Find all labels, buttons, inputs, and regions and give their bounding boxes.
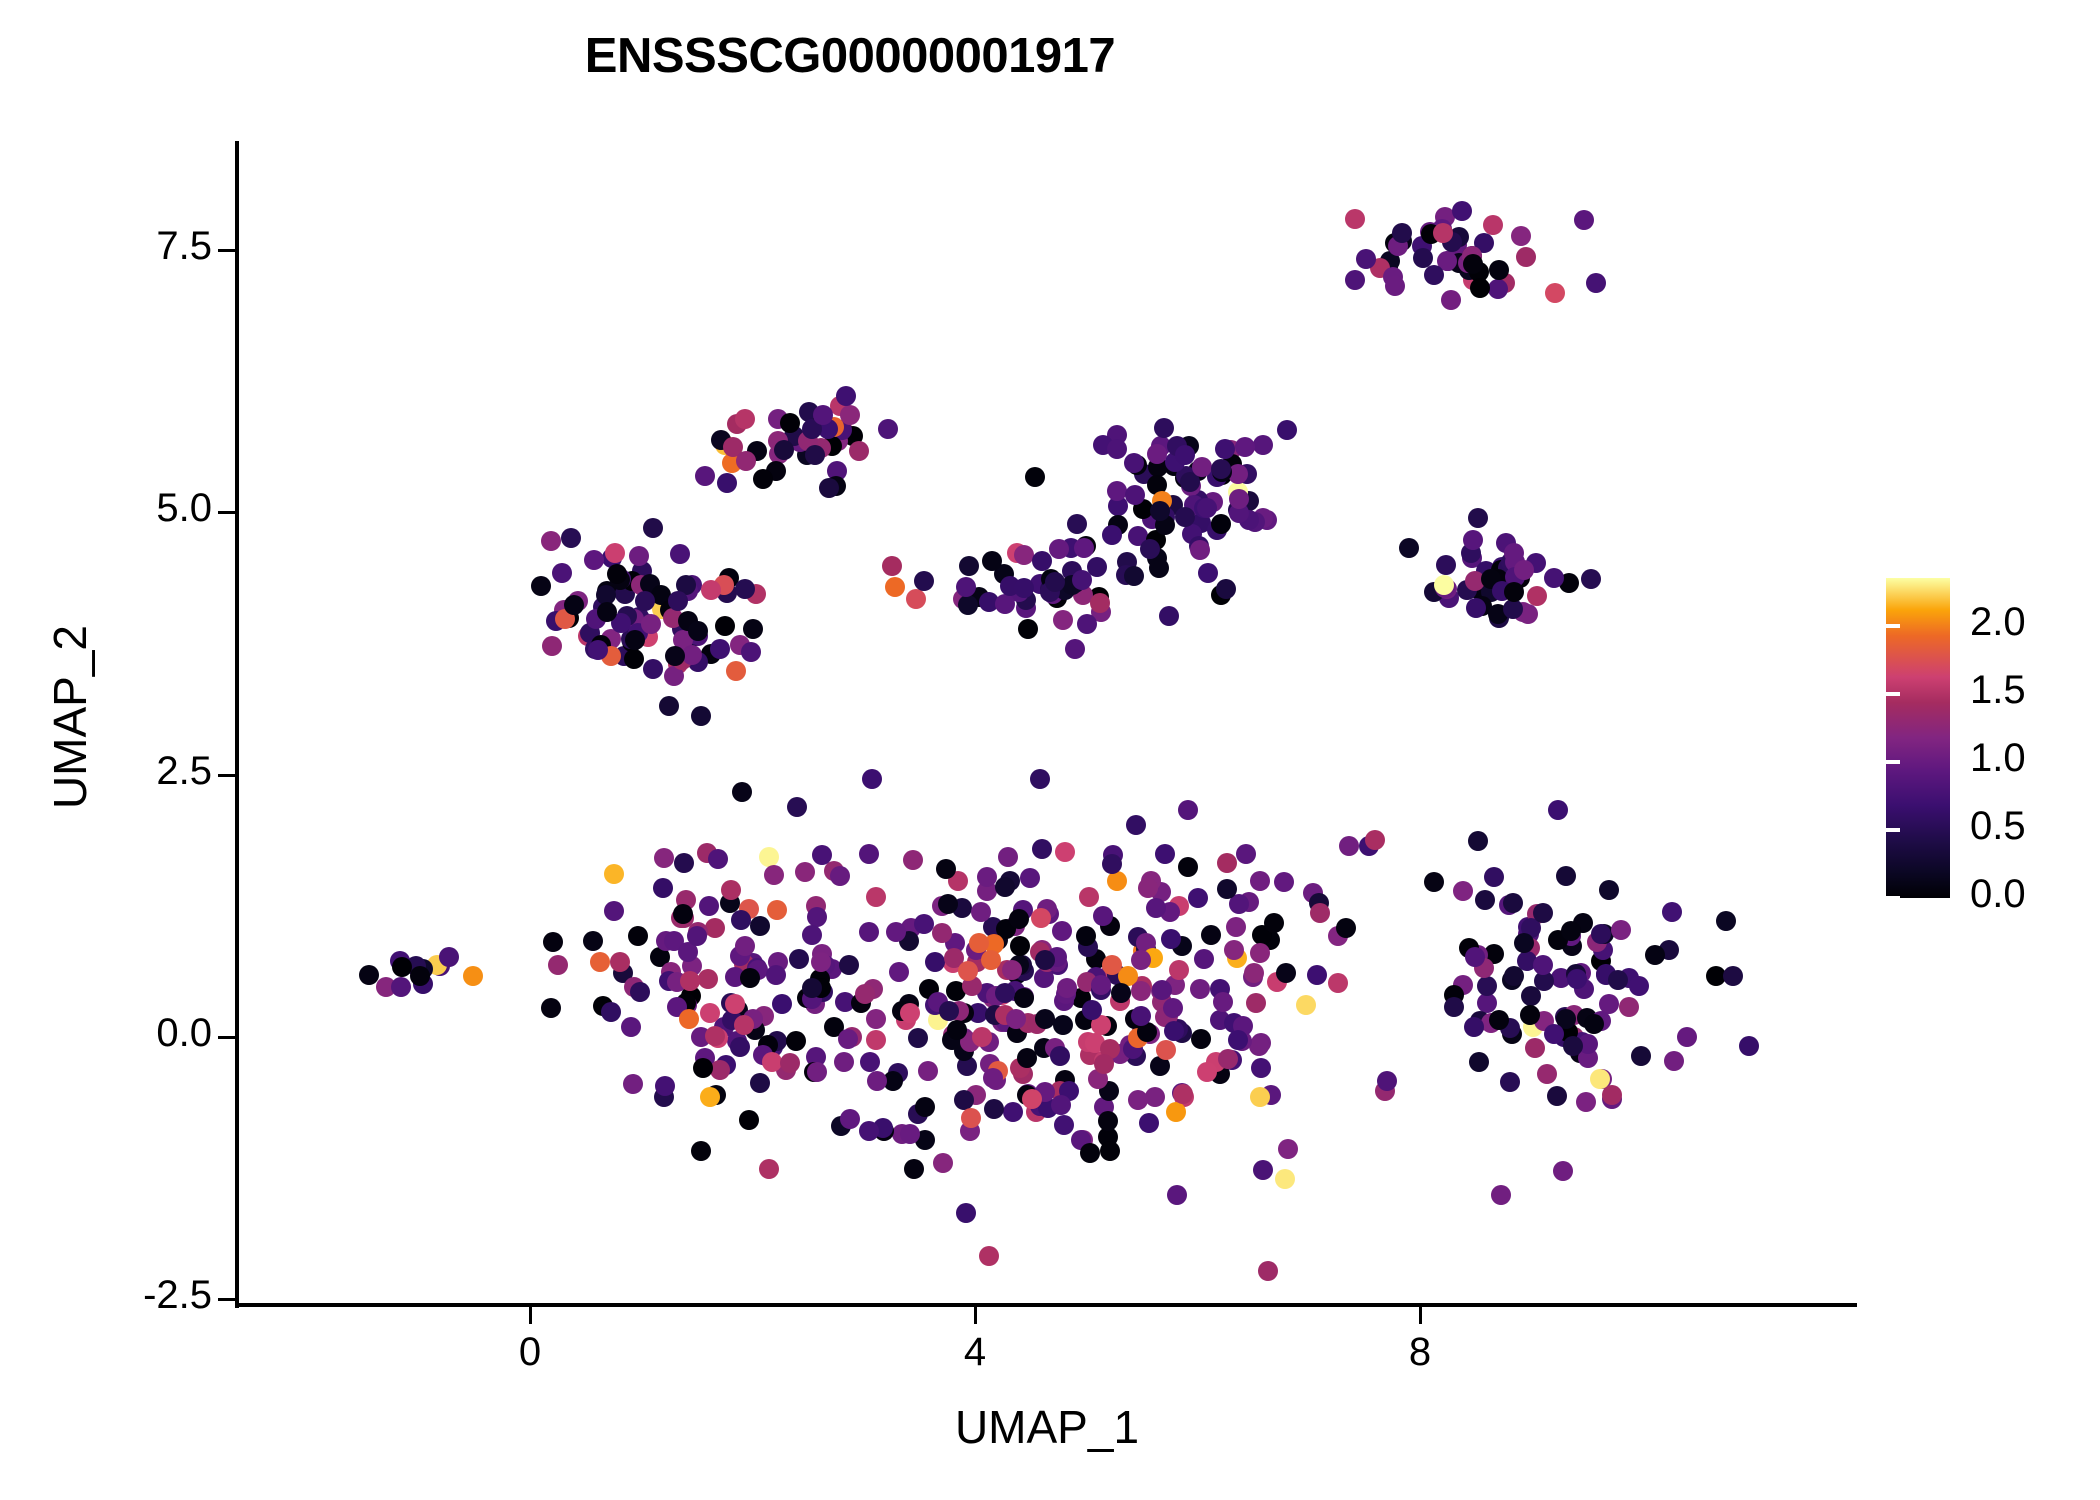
scatter-point — [900, 1124, 920, 1144]
scatter-point — [904, 1159, 924, 1179]
colorbar-tick-mark — [1886, 828, 1900, 832]
scatter-point — [1664, 1051, 1684, 1071]
scatter-point — [1433, 223, 1453, 243]
y-tick-mark — [218, 511, 235, 514]
scatter-point — [1009, 909, 1029, 929]
scatter-point — [743, 619, 763, 639]
colorbar-tick-mark — [1886, 896, 1900, 900]
y-tick-mark — [218, 1036, 235, 1039]
scatter-point — [1581, 569, 1601, 589]
scatter-point — [543, 932, 563, 952]
scatter-point — [1067, 514, 1087, 534]
scatter-point — [772, 994, 792, 1014]
scatter-point — [767, 900, 787, 920]
scatter-point — [410, 966, 430, 986]
scatter-point — [735, 579, 755, 599]
scatter-point — [1079, 887, 1099, 907]
scatter-point — [691, 706, 711, 726]
scatter-point — [1250, 943, 1270, 963]
scatter-point — [1140, 539, 1160, 559]
scatter-point — [584, 550, 604, 570]
scatter-point — [629, 546, 649, 566]
scatter-point — [1336, 918, 1356, 938]
scatter-point — [787, 797, 807, 817]
scatter-point — [933, 1153, 953, 1173]
scatter-point — [1010, 936, 1030, 956]
colorbar-tick-label: 0.5 — [1970, 804, 2100, 849]
scatter-point — [807, 907, 827, 927]
scatter-point — [1146, 898, 1166, 918]
scatter-point — [977, 867, 997, 887]
scatter-point — [1051, 1095, 1071, 1115]
colorbar-tick-mark — [1872, 760, 1886, 764]
scatter-point — [1591, 924, 1611, 944]
scatter-point — [1468, 508, 1488, 528]
scatter-point — [739, 1110, 759, 1130]
scatter-point — [838, 1029, 858, 1049]
scatter-point — [780, 1053, 800, 1073]
scatter-point — [725, 994, 745, 1014]
scatter-point — [1155, 844, 1175, 864]
scatter-point — [789, 949, 809, 969]
scatter-point — [1463, 254, 1483, 274]
scatter-point — [1608, 970, 1628, 990]
scatter-point — [1246, 993, 1266, 1013]
scatter-point — [740, 968, 760, 988]
scatter-point — [759, 1159, 779, 1179]
y-axis-line — [235, 141, 239, 1308]
scatter-point — [805, 445, 825, 465]
scatter-point — [1586, 273, 1606, 293]
scatter-point — [882, 556, 902, 576]
scatter-point — [932, 923, 952, 943]
scatter-point — [1102, 854, 1122, 874]
scatter-point — [766, 965, 786, 985]
scatter-point — [1094, 1054, 1114, 1074]
scatter-point — [866, 887, 886, 907]
scatter-point — [1164, 1021, 1184, 1041]
scatter-point — [699, 896, 719, 916]
scatter-point — [1567, 969, 1587, 989]
scatter-point — [859, 1121, 879, 1141]
scatter-point — [531, 576, 551, 596]
scatter-point — [956, 1203, 976, 1223]
scatter-point — [1159, 606, 1179, 626]
scatter-point — [1175, 507, 1195, 527]
scatter-point — [1662, 902, 1682, 922]
scatter-point — [1739, 1036, 1759, 1056]
scatter-point — [1276, 963, 1296, 983]
scatter-point — [705, 918, 725, 938]
scatter-point — [605, 543, 625, 563]
scatter-point — [1211, 514, 1231, 534]
scatter-point — [668, 591, 688, 611]
scatter-point — [1014, 988, 1034, 1008]
scatter-point — [541, 998, 561, 1018]
scatter-point — [708, 849, 728, 869]
colorbar-tick-label: 1.5 — [1970, 668, 2100, 713]
scatter-point — [1188, 888, 1208, 908]
scatter-point — [1035, 1009, 1055, 1029]
scatter-point — [610, 952, 630, 972]
scatter-point — [862, 769, 882, 789]
colorbar-tick-mark — [1872, 828, 1886, 832]
scatter-point — [780, 413, 800, 433]
scatter-point — [947, 1020, 967, 1040]
colorbar-tick-label: 0.0 — [1970, 872, 2100, 917]
y-tick-mark — [218, 1298, 235, 1301]
colorbar-tick-mark — [1886, 692, 1900, 696]
scatter-point — [1547, 1086, 1567, 1106]
scatter-point — [859, 922, 879, 942]
scatter-point — [840, 1109, 860, 1129]
colorbar-tick-mark — [1872, 896, 1886, 900]
scatter-point — [925, 952, 945, 972]
y-axis-ticks: -2.50.02.55.07.5 — [0, 0, 212, 1500]
scatter-point — [736, 451, 756, 471]
scatter-point — [601, 1002, 621, 1022]
scatter-point — [710, 639, 730, 659]
scatter-point — [764, 865, 784, 885]
scatter-point — [1236, 844, 1256, 864]
x-tick-label: 4 — [915, 1330, 1035, 1375]
plot-canvas: ENSSSCG00000001917 -2.50.02.55.07.5 048 … — [0, 0, 2100, 1500]
scatter-point — [635, 591, 655, 611]
scatter-point — [1278, 1139, 1298, 1159]
scatter-point — [1217, 853, 1237, 873]
scatter-point — [762, 1052, 782, 1072]
colorbar-tick-mark — [1886, 760, 1900, 764]
scatter-point — [1444, 997, 1464, 1017]
scatter-point — [628, 926, 648, 946]
scatter-point — [654, 848, 674, 868]
scatter-point — [731, 910, 751, 930]
scatter-point — [802, 978, 822, 998]
scatter-point — [732, 782, 752, 802]
scatter-point — [1434, 575, 1454, 595]
scatter-point — [625, 630, 645, 650]
scatter-point — [1548, 800, 1568, 820]
scatter-point — [1436, 555, 1456, 575]
x-tick-mark — [529, 1307, 532, 1324]
scatter-point — [1253, 435, 1273, 455]
scatter-point — [802, 925, 822, 945]
y-axis-title: UMAP_2 — [43, 317, 97, 1117]
scatter-point — [1533, 903, 1553, 923]
scatter-point — [1077, 614, 1097, 634]
scatter-point — [1124, 453, 1144, 473]
scatter-point — [1584, 1014, 1604, 1034]
scatter-point — [1226, 917, 1246, 937]
scatter-point — [1017, 1048, 1037, 1068]
scatter-point — [1249, 1036, 1269, 1056]
scatter-point — [1503, 893, 1523, 913]
y-tick-mark — [218, 249, 235, 252]
scatter-point — [906, 589, 926, 609]
scatter-point — [834, 1052, 854, 1072]
colorbar-tick-label: 1.0 — [1970, 736, 2100, 781]
scatter-point — [693, 1058, 713, 1078]
scatter-point — [1006, 1009, 1026, 1029]
scatter-point — [1489, 260, 1509, 280]
x-tick-mark — [974, 1307, 977, 1324]
scatter-point — [463, 966, 483, 986]
scatter-point — [1250, 871, 1270, 891]
scatter-point — [715, 616, 735, 636]
scatter-point — [561, 528, 581, 548]
scatter-point — [359, 965, 379, 985]
scatter-point — [889, 962, 909, 982]
scatter-point — [759, 847, 779, 867]
scatter-point — [998, 847, 1018, 867]
scatter-point — [795, 862, 815, 882]
scatter-point — [392, 957, 412, 977]
scatter-point — [1399, 538, 1419, 558]
scatter-point — [819, 478, 839, 498]
scatter-point — [1124, 566, 1144, 586]
scatter-point — [866, 1009, 886, 1029]
scatter-point — [1511, 226, 1531, 246]
x-axis-line — [237, 1303, 1857, 1307]
scatter-point — [1050, 1046, 1070, 1066]
scatter-point — [710, 1060, 730, 1080]
scatter-point — [1556, 866, 1576, 886]
scatter-point — [1525, 1038, 1545, 1058]
scatter-point — [936, 859, 956, 879]
scatter-point — [597, 602, 617, 622]
x-tick-label: 0 — [470, 1330, 590, 1375]
scatter-point — [1424, 872, 1444, 892]
scatter-point — [1161, 929, 1181, 949]
scatter-point — [741, 642, 761, 662]
scatter-point — [1469, 1052, 1489, 1072]
scatter-point — [1169, 960, 1189, 980]
scatter-point — [836, 386, 856, 406]
scatter-point — [1107, 439, 1127, 459]
scatter-point — [1576, 1092, 1596, 1112]
scatter-point — [1251, 1058, 1271, 1078]
scatter-point — [643, 659, 663, 679]
scatter-point — [1356, 249, 1376, 269]
scatter-point — [1053, 610, 1073, 630]
scatter-point — [1128, 1090, 1148, 1110]
scatter-point — [548, 955, 568, 975]
scatter-point — [1031, 908, 1051, 928]
scatter-point — [1126, 815, 1146, 835]
scatter-point — [1477, 976, 1497, 996]
scatter-point — [958, 595, 978, 615]
scatter-point — [1544, 568, 1564, 588]
scatter-point — [1599, 880, 1619, 900]
scatter-point — [541, 531, 561, 551]
scatter-point — [995, 877, 1015, 897]
scatter-point — [830, 866, 850, 886]
scatter-point — [1150, 501, 1170, 521]
scatter-point — [1677, 1027, 1697, 1047]
scatter-point — [1503, 599, 1523, 619]
scatter-point — [983, 1068, 1003, 1088]
scatter-point — [1139, 1113, 1159, 1133]
scatter-point — [855, 984, 875, 1004]
scatter-point — [1475, 890, 1495, 910]
scatter-point — [1156, 1040, 1176, 1060]
scatter-point — [813, 405, 833, 425]
colorbar-tick-mark — [1872, 624, 1886, 628]
scatter-point — [1211, 459, 1231, 479]
scatter-point — [1065, 639, 1085, 659]
scatter-point — [984, 1099, 1004, 1119]
scatter-point — [1228, 1030, 1248, 1050]
scatter-point — [995, 594, 1015, 614]
scatter-point — [583, 931, 603, 951]
scatter-point — [1102, 955, 1122, 975]
scatter-point — [670, 544, 690, 564]
scatter-point — [1463, 530, 1483, 550]
scatter-point — [1235, 437, 1255, 457]
scatter-point — [700, 1087, 720, 1107]
scatter-point — [655, 1076, 675, 1096]
scatter-point — [1574, 210, 1594, 230]
y-tick-mark — [218, 774, 235, 777]
scatter-point — [840, 405, 860, 425]
scatter-point — [915, 1097, 935, 1117]
scatter-point — [721, 880, 741, 900]
scatter-point — [1147, 444, 1167, 464]
scatter-point — [1464, 1017, 1484, 1037]
scatter-point — [1131, 950, 1151, 970]
scatter-point — [1274, 872, 1294, 892]
scatter-point — [1470, 278, 1490, 298]
scatter-point — [1054, 1115, 1074, 1135]
scatter-point — [750, 1073, 770, 1093]
scatter-point — [1296, 995, 1316, 1015]
scatter-point — [1377, 1071, 1397, 1091]
scatter-point — [1032, 839, 1052, 859]
scatter-point — [1516, 247, 1536, 267]
scatter-point — [1544, 1024, 1564, 1044]
scatter-point — [698, 969, 718, 989]
scatter-point — [1629, 976, 1649, 996]
scatter-point — [1258, 1261, 1278, 1281]
colorbar-tick-mark — [1886, 624, 1900, 628]
scatter-point — [1215, 439, 1235, 459]
scatter-point — [1082, 1000, 1102, 1020]
scatter-point — [1020, 868, 1040, 888]
scatter-point — [1178, 800, 1198, 820]
scatter-point — [1533, 955, 1553, 975]
scatter-point — [1491, 1185, 1511, 1205]
scatter-point — [1055, 842, 1075, 862]
scatter-point — [900, 1003, 920, 1023]
scatter-point — [786, 1031, 806, 1051]
scatter-point — [1339, 836, 1359, 856]
scatter-point — [659, 696, 679, 716]
scatter-point — [1125, 485, 1145, 505]
scatter-point — [730, 1037, 750, 1057]
scatter-point — [1074, 538, 1094, 558]
scatter-point — [886, 922, 906, 942]
scatter-point — [1201, 925, 1221, 945]
scatter-point — [1275, 1169, 1295, 1189]
scatter-point — [1514, 933, 1534, 953]
scatter-point — [1191, 1029, 1211, 1049]
scatter-point — [1194, 949, 1214, 969]
scatter-point — [1424, 265, 1444, 285]
scatter-point — [679, 1009, 699, 1029]
scatter-point — [1131, 981, 1151, 1001]
scatter-point — [701, 580, 721, 600]
scatter-point — [643, 518, 663, 538]
y-tick-label: 7.5 — [62, 224, 212, 269]
scatter-point — [1264, 913, 1284, 933]
scatter-point — [1022, 1089, 1042, 1109]
scatter-point — [682, 645, 702, 665]
scatter-point — [849, 441, 869, 461]
scatter-point — [753, 469, 773, 489]
scatter-point — [1213, 992, 1233, 1012]
scatter-point — [726, 661, 746, 681]
scatter-point — [859, 844, 879, 864]
scatter-point — [1466, 598, 1486, 618]
colorbar-tick-mark — [1872, 692, 1886, 696]
scatter-point — [867, 1071, 887, 1091]
scatter-point — [1631, 1046, 1651, 1066]
scatter-point — [1076, 926, 1096, 946]
scatter-point — [653, 878, 673, 898]
scatter-point — [918, 1061, 938, 1081]
scatter-point — [1645, 945, 1665, 965]
scatter-point — [1178, 857, 1198, 877]
scatter-point — [1385, 276, 1405, 296]
scatter-point — [908, 1028, 928, 1048]
scatter-point — [695, 466, 715, 486]
scatter-point — [604, 864, 624, 884]
scatter-point — [1052, 921, 1072, 941]
scatter-point — [1163, 998, 1183, 1018]
scatter-point — [1504, 582, 1524, 602]
page-title: ENSSSCG00000001917 — [0, 28, 1700, 84]
scatter-point — [623, 1074, 643, 1094]
scatter-point — [590, 952, 610, 972]
scatter-plot-panel — [237, 141, 1857, 1305]
scatter-point — [674, 853, 694, 873]
x-tick-mark — [1419, 1307, 1422, 1324]
scatter-point — [1545, 283, 1565, 303]
scatter-point — [1328, 973, 1348, 993]
scatter-point — [687, 926, 707, 946]
scatter-point — [1216, 579, 1236, 599]
scatter-point — [1250, 1087, 1270, 1107]
scatter-point — [1229, 489, 1249, 509]
scatter-point — [1253, 1160, 1273, 1180]
scatter-point — [938, 894, 958, 914]
scatter-point — [1452, 201, 1472, 221]
scatter-point — [807, 1062, 827, 1082]
scatter-point — [1154, 418, 1174, 438]
scatter-point — [1152, 980, 1172, 1000]
scatter-point — [1453, 881, 1473, 901]
scatter-point — [1057, 978, 1077, 998]
x-axis-title: UMAP_1 — [237, 1400, 1857, 1454]
scatter-point — [1611, 920, 1631, 940]
scatter-point — [1080, 1143, 1100, 1163]
scatter-point — [1198, 563, 1218, 583]
scatter-point — [542, 636, 562, 656]
scatter-point — [971, 902, 991, 922]
scatter-point — [1053, 1015, 1073, 1035]
scatter-point — [735, 409, 755, 429]
scatter-point — [439, 947, 459, 967]
